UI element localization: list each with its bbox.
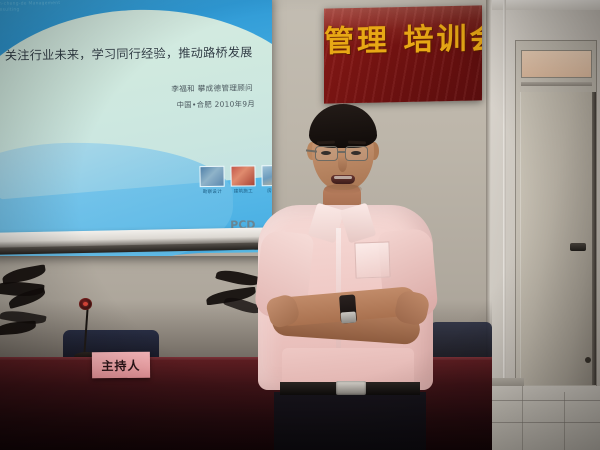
shirt-pocket xyxy=(354,241,390,278)
presenter xyxy=(0,0,600,450)
belt-buckle xyxy=(336,381,366,395)
teeth xyxy=(334,176,352,179)
photo-scene: 管理 培训会 攀成德管理顾问 Pan-cheng-de Management C… xyxy=(0,0,600,450)
eyeglasses-lens-left xyxy=(315,146,338,161)
eyeglasses-bridge xyxy=(338,151,346,153)
wristwatch-face xyxy=(341,311,357,323)
eyeglasses-lens-right xyxy=(345,146,368,161)
trousers xyxy=(274,392,426,450)
nose xyxy=(338,156,347,172)
chin-shadow xyxy=(324,184,362,194)
